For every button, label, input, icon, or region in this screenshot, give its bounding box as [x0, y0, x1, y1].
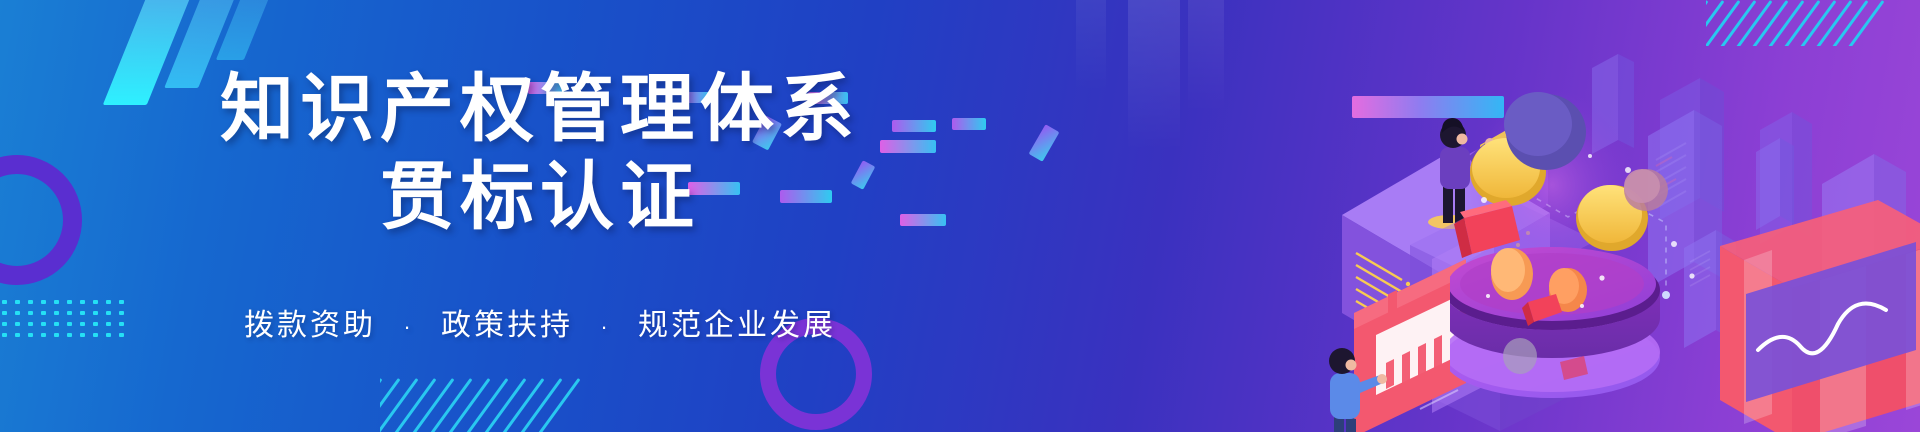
tagline-separator-1: · [403, 314, 413, 340]
title-line-2: 贯标认证 [0, 160, 1080, 234]
tagline-separator-2: · [600, 314, 610, 340]
text-block: 知识产权管理体系 贯标认证 拨款资助 · 政策扶持 · 规范企业发展 [0, 0, 1080, 432]
tagline-item-1: 拨款资助 [244, 309, 376, 342]
tagline-item-2: 政策扶持 [441, 309, 573, 342]
tagline-item-3: 规范企业发展 [638, 309, 836, 342]
title-line-1: 知识产权管理体系 [0, 72, 1080, 146]
wave-chart-card [1700, 200, 1920, 432]
tagline: 拨款资助 · 政策扶持 · 规范企业发展 [0, 300, 1080, 344]
promo-banner: 知识产权管理体系 贯标认证 拨款资助 · 政策扶持 · 规范企业发展 [0, 0, 1920, 432]
